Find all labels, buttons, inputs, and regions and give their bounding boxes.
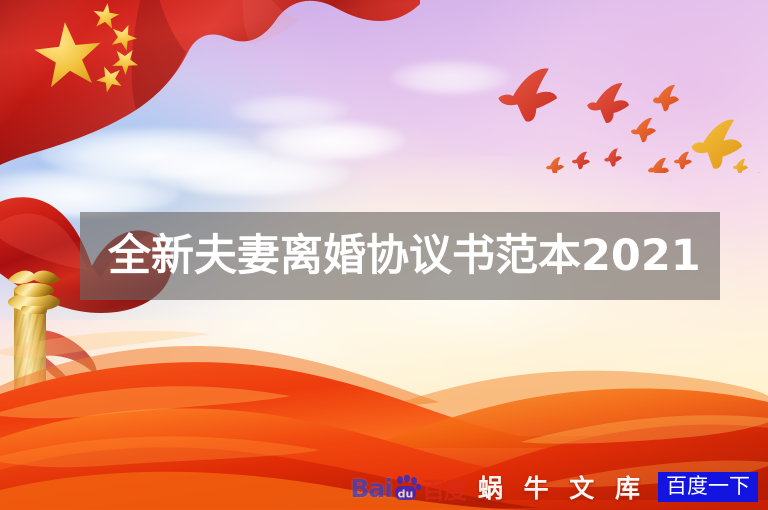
site-watermark: 蜗 牛 文 库 bbox=[478, 469, 646, 505]
baidu-logo-prefix: Bai bbox=[350, 474, 392, 503]
baidu-logo-suffix: 百度 bbox=[422, 471, 466, 505]
chinese-national-flag bbox=[0, 0, 420, 196]
baidu-paw-icon: du bbox=[392, 475, 422, 502]
title-overlay-band: 全新夫妻离婚协议书范本2021 bbox=[80, 212, 720, 300]
baidu-search-button[interactable]: 百度一下 bbox=[658, 472, 758, 501]
footer-watermark-bar: Bai du 百度 蜗 牛 文 库 百度一下 bbox=[0, 464, 768, 510]
svg-text:du: du bbox=[398, 487, 414, 500]
page-title: 全新夫妻离婚协议书范本2021 bbox=[108, 235, 701, 278]
banner-image: 全新夫妻离婚协议书范本2021 Bai du 百度 蜗 牛 文 库 百度一下 bbox=[0, 0, 768, 510]
flying-birds-flock bbox=[488, 48, 768, 173]
baidu-logo[interactable]: Bai du 百度 bbox=[350, 471, 466, 505]
